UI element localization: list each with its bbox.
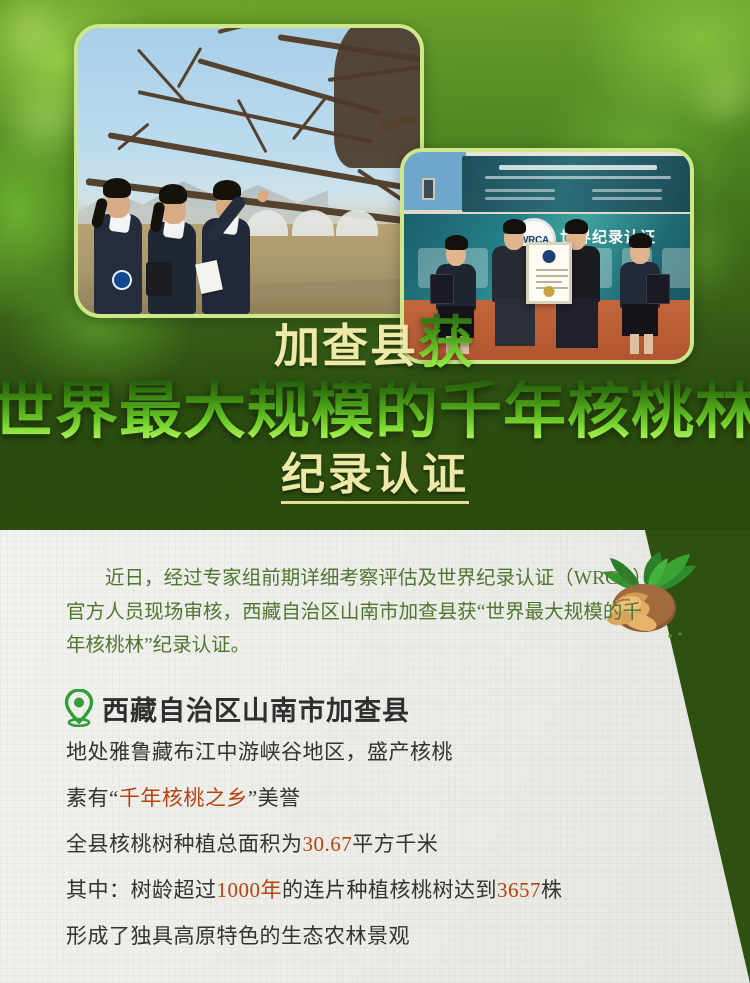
fact-text: 株: [541, 878, 563, 902]
location-heading: 西藏自治区山南市加查县: [64, 689, 750, 728]
map-pin-icon: [64, 689, 94, 727]
intro-paragraph: 近日，经过专家组前期详细考察评估及世界纪录认证（WRCA）官方人员现场审核，西藏…: [66, 562, 642, 663]
facts-list: 地处雅鲁藏布江中游峡谷地区，盛产核桃素有“千年核桃之乡”美誉全县核桃树种植总面积…: [66, 742, 750, 947]
fact-text: 地处雅鲁藏布江中游峡谷地区，盛产核桃: [66, 740, 453, 764]
tree-trunk: [334, 24, 424, 168]
content-area: 近日，经过专家组前期详细考察评估及世界纪录认证（WRCA）官方人员现场审核，西藏…: [0, 530, 750, 972]
title-line-1: 加查县获: [0, 316, 750, 372]
poster-root: WRCA 世界纪录认证: [0, 0, 750, 983]
fact-line: 形成了独具高原特色的生态农林景观: [66, 926, 750, 947]
wrca-plaque: [646, 274, 670, 304]
fact-text: 其中：树龄超过: [66, 878, 217, 902]
title-line-2: “世界最大规模的千年核桃林”: [0, 380, 750, 443]
photo-scene: [78, 28, 420, 314]
sky-patch: [404, 152, 466, 210]
fact-text: 全县核桃树种植总面积为: [66, 832, 303, 856]
fact-text: 素有“: [66, 786, 119, 810]
wrca-plaque: [430, 274, 454, 304]
fact-text: 形成了独具高原特色的生态农林景观: [66, 924, 410, 948]
guide-person-pointing: [196, 164, 292, 314]
fact-line: 其中：树龄超过1000年的连片种植核桃树达到3657株: [66, 880, 750, 901]
walnut-tree-survey-photo[interactable]: [74, 24, 424, 318]
event-banner: [462, 156, 694, 212]
wrca-badge: [112, 270, 132, 290]
poster-title-block: 加查县获 “世界最大规模的千年核桃林” 纪录认证: [0, 316, 750, 504]
title-county-name: 加查县: [274, 321, 418, 372]
fact-text: ”美誉: [248, 786, 301, 810]
fact-line: 地处雅鲁藏布江中游峡谷地区，盛产核桃: [66, 742, 750, 763]
fact-highlight: 3657: [497, 878, 541, 902]
title-line-3-certification: 纪录认证: [281, 453, 469, 504]
fact-text: 的连片种植核桃树达到: [282, 878, 497, 902]
location-title: 西藏自治区山南市加查县: [102, 689, 410, 728]
fact-highlight: 30.67: [303, 832, 353, 856]
tree-branch: [292, 95, 328, 140]
survey-team: [78, 164, 308, 314]
fact-text: 平方千米: [352, 832, 438, 856]
fact-line: 全县核桃树种植总面积为30.67平方千米: [66, 834, 750, 855]
title-main-record-name: 世界最大规模的千年核桃林: [0, 380, 750, 443]
clipboard: [146, 262, 172, 296]
fact-highlight: 千年核桃之乡: [119, 786, 248, 810]
tree-branch: [177, 47, 203, 88]
title-obtain-char: 获: [418, 313, 476, 375]
tree-branch: [218, 24, 335, 34]
tree-branch: [237, 99, 268, 153]
window: [422, 178, 435, 200]
world-record-certificate: [526, 242, 572, 304]
pointing-hand: [256, 188, 271, 203]
fact-highlight: 1000年: [217, 878, 283, 902]
fact-line: 素有“千年核桃之乡”美誉: [66, 788, 750, 809]
